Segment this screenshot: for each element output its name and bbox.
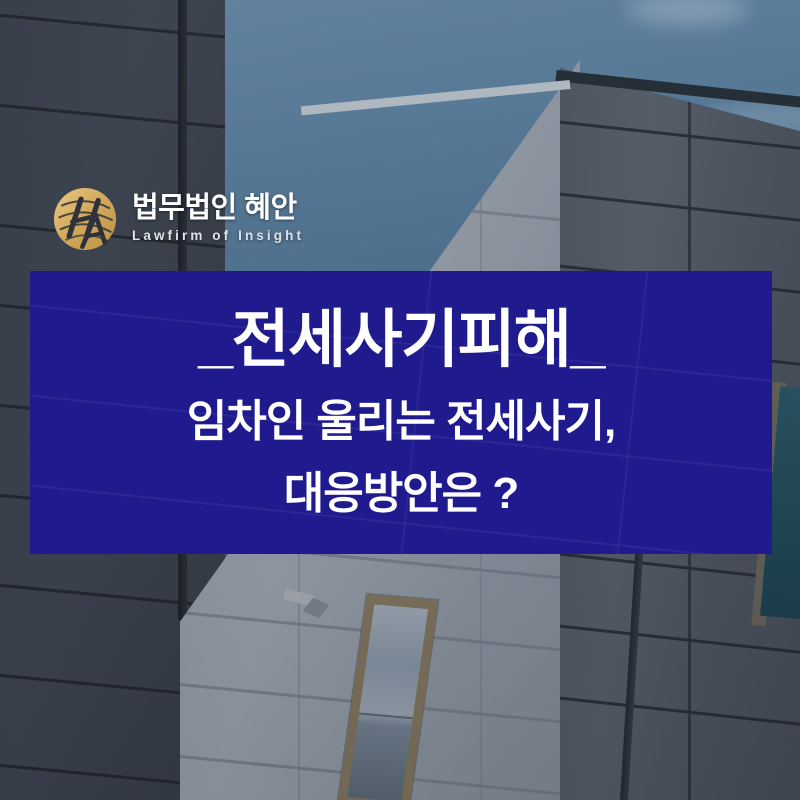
headline-subtitle-line-1: 임차인 울리는 전세사기, — [30, 400, 772, 444]
headline-banner-content: _전세사기피해_ 임차인 울리는 전세사기, 대응방안은 ? — [30, 271, 772, 516]
headline-title: _전세사기피해_ — [30, 309, 772, 372]
headline-subtitle-line-2: 대응방안은 ? — [30, 472, 772, 516]
brand-tagline: Lawfirm of Insight — [132, 228, 304, 243]
ha-monogram-icon — [52, 186, 118, 252]
brand-logo-text: 법무법인 혜안 Lawfirm of Insight — [132, 193, 304, 245]
brand-name: 법무법인 혜안 — [132, 193, 304, 224]
brand-logo: 법무법인 혜안 Lawfirm of Insight — [52, 186, 304, 252]
headline-banner: _전세사기피해_ 임차인 울리는 전세사기, 대응방안은 ? — [30, 271, 772, 554]
promo-card: 법무법인 혜안 Lawfirm of Insight _전세사기피해_ 임차인 … — [0, 0, 800, 800]
